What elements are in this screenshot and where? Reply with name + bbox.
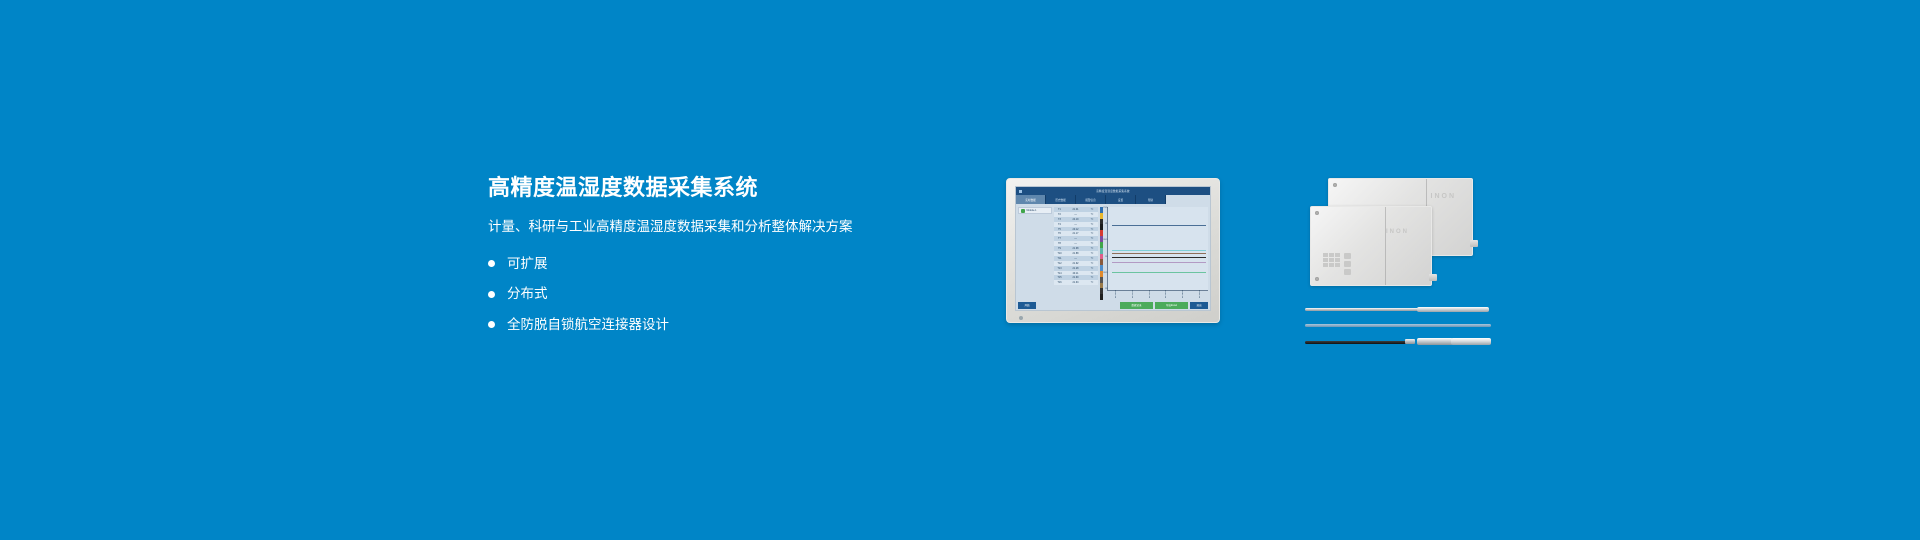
cell-channel: T3 [1054,218,1065,221]
cell-value: 21.94 [1065,281,1086,284]
tab-settings[interactable]: 设置 [1106,195,1136,204]
tree-node-label: Module-1 [1027,209,1037,212]
feature-list: 可扩展 分布式 全防脱自锁航空连接器设计 [488,257,958,332]
screw-icon [1333,183,1337,187]
acquisition-modules: INON INON [1310,178,1485,288]
cell-value: 24.19 [1065,218,1086,221]
x-tick-label: 09:30:00 [1199,290,1201,298]
brand-label: INON [1431,193,1457,200]
feature-label: 分布式 [507,287,548,301]
cell-channel: T2 [1054,213,1065,216]
chart-series-line [1112,253,1206,254]
cell-channel: T9 [1054,247,1065,250]
cell-channel: T6 [1054,232,1065,235]
connector-port [1470,240,1478,247]
cell-channel: T1 [1054,208,1065,211]
monitor-screen: 高精度温湿度数据采集系统 实时数据 历史数据 报警信息 设置 帮助 Module… [1015,186,1211,311]
port-marks-icon [1344,253,1351,275]
probe-handle [1451,338,1491,345]
cell-unit: ℃ [1086,223,1098,226]
tab-history[interactable]: 历史数据 [1046,195,1076,204]
cell-unit: ℃ [1086,232,1098,235]
probe-handle [1417,307,1489,312]
brand-label: INON [1386,229,1409,235]
cell-value: ---- [1065,242,1086,245]
cell-value: 21.88 [1065,252,1086,255]
list-item: 分布式 [488,287,958,301]
y-tick-label: 20 [1098,288,1108,290]
tree-node-module[interactable]: Module-1 [1018,207,1052,214]
cell-unit: ℃ [1086,242,1098,245]
tab-alarms[interactable]: 报警信息 [1076,195,1106,204]
probe-connector-joint [1405,339,1415,344]
probe-metal-barrel [1417,338,1453,345]
y-tick-label: 21.5 [1098,207,1108,209]
cell-unit: ℃ [1086,237,1098,240]
feature-label: 全防脱自锁航空连接器设计 [507,318,669,332]
cell-value: 21.01 [1065,208,1086,211]
cell-unit: ℃ [1086,208,1098,211]
page-title: 高精度温湿度数据采集系统 [488,175,958,201]
module-markings [1323,253,1351,275]
temperature-probes [1305,300,1495,360]
banner-copy: 高精度温湿度数据采集系统 计量、科研与工业高精度温湿度数据采集和分析整体解决方案… [488,175,958,348]
module-seam [1385,207,1386,285]
app-titlebar: 高精度温湿度数据采集系统 [1016,187,1210,195]
screw-icon [1315,211,1319,215]
tab-bar: 实时数据 历史数据 报警信息 设置 帮助 [1016,195,1210,204]
cell-channel: T16 [1054,281,1065,284]
chart-y-axis: 21.52120.52020.520 [1098,207,1108,290]
screw-icon [1315,277,1319,281]
cell-unit: ℃ [1086,281,1098,284]
cell-channel: T7 [1054,237,1065,240]
chart-x-axis: 09:20:0009:22:0009:24:0009:26:0009:28:00… [1108,290,1208,298]
x-tick-label: 09:22:00 [1132,290,1134,298]
tab-realtime[interactable]: 实时数据 [1016,195,1046,204]
app-footer: 开始 数据记录 导出Excel 退出 [1016,300,1210,310]
cell-value: 21.28 [1065,267,1086,270]
cell-channel: T14 [1054,272,1065,275]
cell-unit: ℃ [1086,228,1098,231]
cell-channel: T11 [1054,257,1065,260]
bullet-dot-icon [488,321,495,328]
tab-help[interactable]: 帮助 [1136,195,1166,204]
status-online-icon [1021,209,1025,213]
app-title: 高精度温湿度数据采集系统 [1016,189,1210,193]
cell-value: 21.17 [1065,232,1086,235]
cell-channel: T13 [1054,267,1065,270]
cell-unit: ℃ [1086,218,1098,221]
cell-unit: ℃ [1086,272,1098,275]
probe-shaft [1305,308,1425,311]
cell-unit: ℃ [1086,257,1098,260]
cell-unit: ℃ [1086,262,1098,265]
chart-series-line [1112,272,1206,273]
app-body: Module-1 T121.01℃T2----℃T324.19℃T4----℃T… [1016,204,1210,300]
cell-value: 21.98 [1065,247,1086,250]
device-tree: Module-1 [1018,207,1052,300]
probe-cable-line [1305,341,1411,344]
cell-channel: T5 [1054,228,1065,231]
y-tick-label: 21 [1098,223,1108,225]
table-row[interactable]: T1621.94℃ [1054,280,1098,285]
terminal-grid-icon [1323,253,1340,275]
bullet-dot-icon [488,291,495,298]
cell-channel: T4 [1054,223,1065,226]
product-banner: 高精度温湿度数据采集系统 计量、科研与工业高精度温湿度数据采集和分析整体解决方案… [0,0,1920,540]
list-item: 可扩展 [488,257,958,271]
y-tick-label: 20.5 [1098,239,1108,241]
cell-unit: ℃ [1086,247,1098,250]
cell-value: 21.90 [1065,276,1086,279]
panel-pc-monitor: 高精度温湿度数据采集系统 实时数据 历史数据 报警信息 设置 帮助 Module… [1006,178,1220,323]
y-tick-label: 20 [1098,256,1108,258]
cell-value: ---- [1065,213,1086,216]
cell-channel: T12 [1054,262,1065,265]
connector-port [1429,274,1437,281]
record-button[interactable]: 数据记录 [1120,302,1153,309]
x-tick-label: 09:24:00 [1149,290,1151,298]
tab-bar-filler [1166,195,1210,204]
cell-value: 20.12 [1065,228,1086,231]
cell-unit: ℃ [1086,267,1098,270]
cell-value: ---- [1065,237,1086,240]
chart-series-line [1112,257,1206,258]
x-tick-label: 09:20:00 [1115,290,1117,298]
chart-series-line [1112,225,1206,226]
cell-unit: ℃ [1086,213,1098,216]
page-subtitle: 计量、科研与工业高精度温湿度数据采集和分析整体解决方案 [488,218,958,236]
cell-value: 20.11 [1065,272,1086,275]
list-item: 全防脱自锁航空连接器设计 [488,318,958,332]
chart-series-line [1112,250,1206,251]
y-tick-label: 20.5 [1098,272,1108,274]
x-tick-label: 09:26:00 [1165,290,1167,298]
cell-value: ---- [1065,223,1086,226]
x-tick-label: 09:28:00 [1182,290,1184,298]
bullet-dot-icon [488,260,495,267]
cell-unit: ℃ [1086,276,1098,279]
cell-value: 21.92 [1065,262,1086,265]
exit-button[interactable]: 退出 [1190,302,1208,309]
chart-series-line [1112,262,1206,263]
channel-table: T121.01℃T2----℃T324.19℃T4----℃T520.12℃T6… [1054,207,1098,300]
cell-value: ---- [1065,257,1086,260]
cell-channel: T15 [1054,276,1065,279]
cell-channel: T10 [1054,252,1065,255]
cell-unit: ℃ [1086,252,1098,255]
trend-chart: 21.52120.52020.520 09:20:0009:22:0009:24… [1107,207,1208,291]
export-excel-button[interactable]: 导出Excel [1155,302,1188,309]
feature-label: 可扩展 [507,257,548,271]
module-unit-front: INON [1310,206,1432,286]
probe-cable-line [1305,324,1491,327]
cell-channel: T8 [1054,242,1065,245]
start-button[interactable]: 开始 [1018,302,1036,309]
